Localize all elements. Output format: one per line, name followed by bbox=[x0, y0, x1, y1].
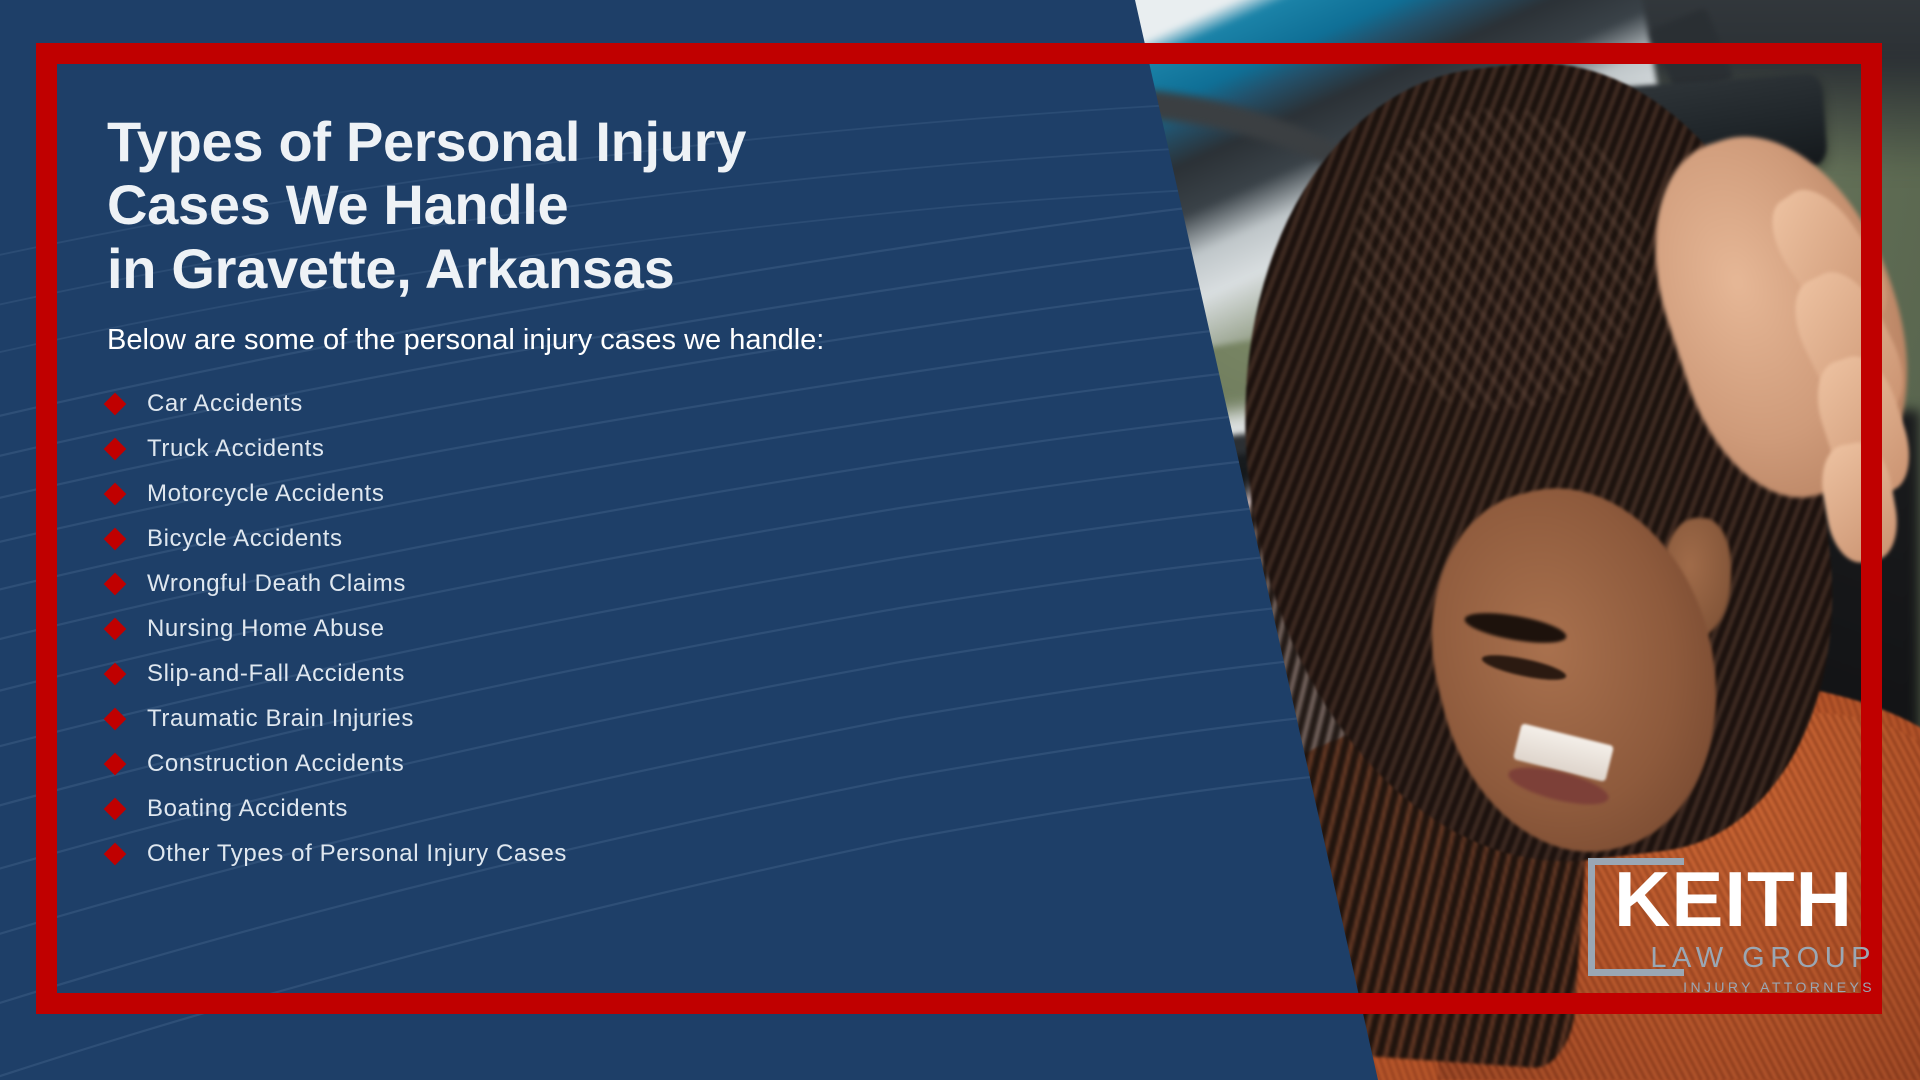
diamond-bullet-icon bbox=[104, 618, 127, 641]
list-item[interactable]: Truck Accidents bbox=[107, 437, 1127, 461]
diamond-bullet-icon bbox=[104, 528, 127, 551]
page-title: Types of Personal Injury Cases We Handle… bbox=[107, 110, 1127, 300]
logo-tagline: INJURY ATTORNEYS bbox=[1683, 980, 1875, 994]
list-item-label: Car Accidents bbox=[147, 392, 303, 416]
list-item-label: Wrongful Death Claims bbox=[147, 572, 406, 596]
list-item-label: Truck Accidents bbox=[147, 437, 325, 461]
diamond-bullet-icon bbox=[104, 753, 127, 776]
list-item[interactable]: Motorcycle Accidents bbox=[107, 482, 1127, 506]
diamond-bullet-icon bbox=[104, 483, 127, 506]
diamond-bullet-icon bbox=[104, 843, 127, 866]
list-item-label: Boating Accidents bbox=[147, 797, 348, 821]
page-subtitle: Below are some of the personal injury ca… bbox=[107, 322, 1127, 358]
list-item-label: Slip-and-Fall Accidents bbox=[147, 662, 405, 686]
diamond-bullet-icon bbox=[104, 438, 127, 461]
list-item[interactable]: Boating Accidents bbox=[107, 797, 1127, 821]
list-item[interactable]: Nursing Home Abuse bbox=[107, 617, 1127, 641]
diamond-bullet-icon bbox=[104, 708, 127, 731]
banner-root: Types of Personal Injury Cases We Handle… bbox=[0, 0, 1920, 1080]
list-item[interactable]: Construction Accidents bbox=[107, 752, 1127, 776]
content-block: Types of Personal Injury Cases We Handle… bbox=[107, 110, 1127, 887]
list-item[interactable]: Wrongful Death Claims bbox=[107, 572, 1127, 596]
list-item-label: Bicycle Accidents bbox=[147, 527, 343, 551]
diamond-bullet-icon bbox=[104, 663, 127, 686]
logo-subtitle: LAW GROUP bbox=[1650, 944, 1876, 973]
photo-hair-parting bbox=[1352, 108, 1644, 410]
list-item-label: Construction Accidents bbox=[147, 752, 404, 776]
list-item[interactable]: Traumatic Brain Injuries bbox=[107, 707, 1127, 731]
logo-name: KEITH bbox=[1614, 860, 1853, 938]
case-types-list: Car Accidents Truck Accidents Motorcycle… bbox=[107, 392, 1127, 866]
diamond-bullet-icon bbox=[104, 393, 127, 416]
list-item-label: Traumatic Brain Injuries bbox=[147, 707, 414, 731]
diamond-bullet-icon bbox=[104, 573, 127, 596]
list-item[interactable]: Other Types of Personal Injury Cases bbox=[107, 842, 1127, 866]
list-item[interactable]: Slip-and-Fall Accidents bbox=[107, 662, 1127, 686]
list-item-label: Other Types of Personal Injury Cases bbox=[147, 842, 567, 866]
keith-law-group-logo[interactable]: KEITH LAW GROUP INJURY ATTORNEYS bbox=[1588, 856, 1878, 1006]
list-item[interactable]: Bicycle Accidents bbox=[107, 527, 1127, 551]
list-item-label: Nursing Home Abuse bbox=[147, 617, 385, 641]
list-item[interactable]: Car Accidents bbox=[107, 392, 1127, 416]
diamond-bullet-icon bbox=[104, 798, 127, 821]
list-item-label: Motorcycle Accidents bbox=[147, 482, 384, 506]
